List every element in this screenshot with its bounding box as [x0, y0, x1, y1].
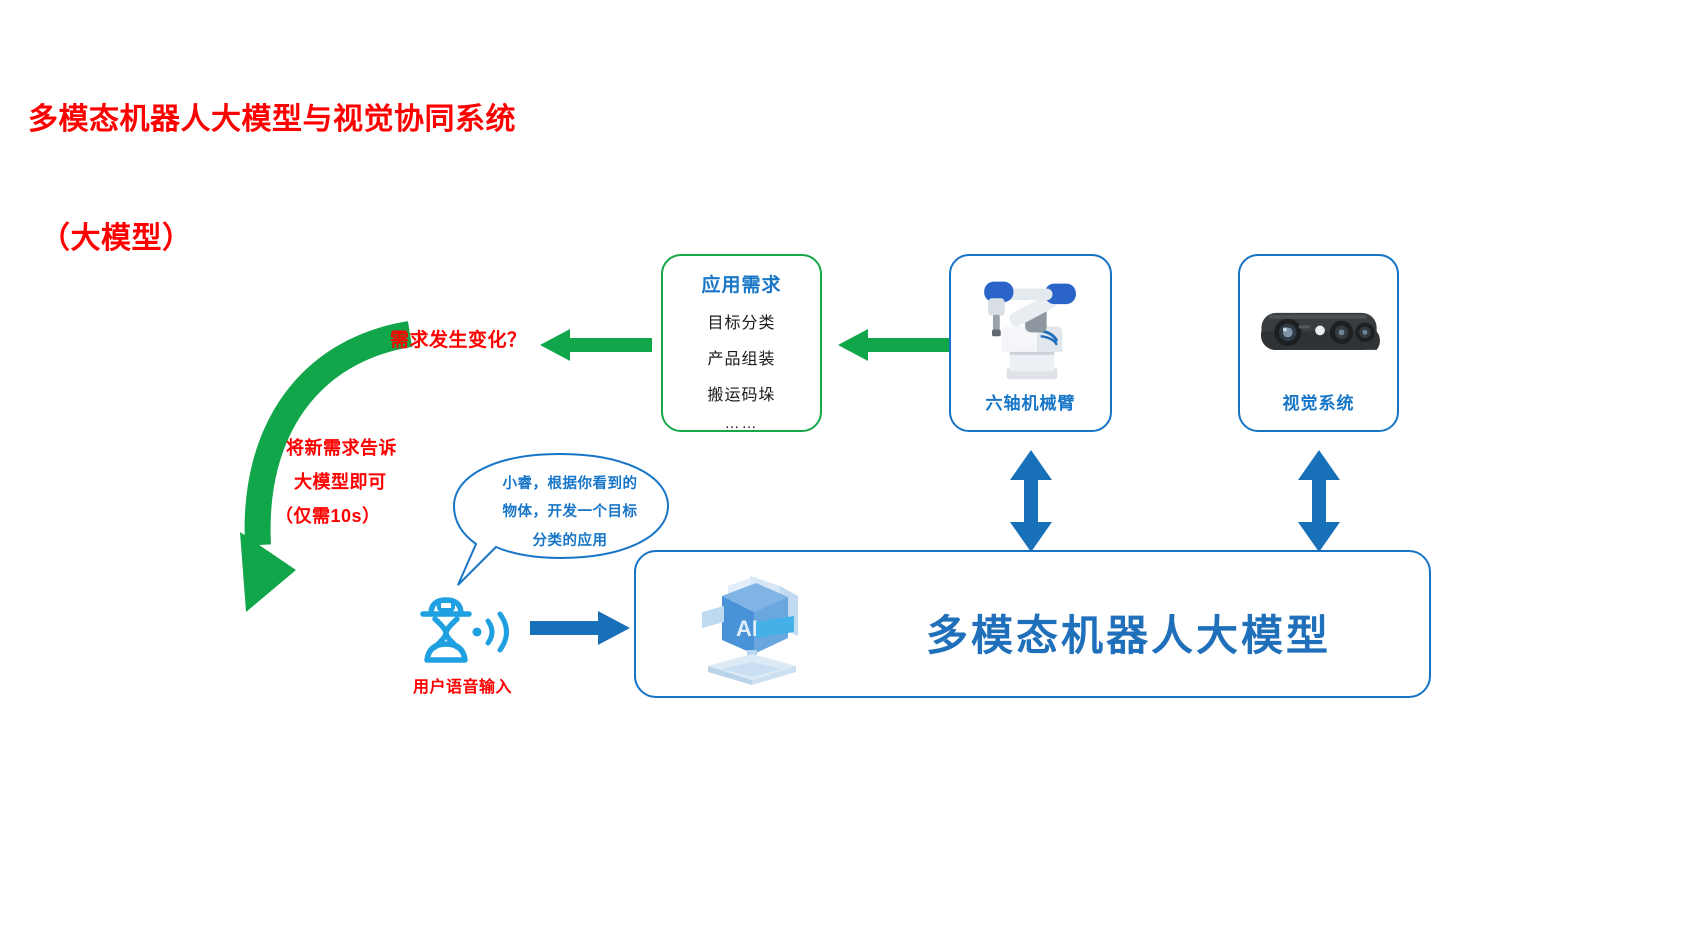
requirements-heading: 应用需求 [663, 270, 820, 297]
depth-camera-icon [1240, 266, 1396, 388]
user-voice-icon [413, 592, 518, 664]
multimodal-model-card: AI 多模态机器人大模型 [634, 550, 1431, 698]
ai-cube-icon: AI [694, 570, 814, 685]
requirement-item-ellipsis: …… [663, 415, 820, 432]
speech-bubble-line-1: 小睿，根据你看到的 [482, 470, 658, 498]
blue-arrow-user-to-model [530, 608, 630, 648]
blue-double-arrow-camera [1296, 450, 1342, 552]
speech-bubble-text: 小睿，根据你看到的 物体，开发一个目标 分类的应用 [482, 470, 658, 555]
robot-arm-icon [951, 266, 1107, 388]
green-arrow-arm-to-req [838, 325, 950, 365]
tell-model-label-line2: 大模型即可 [294, 468, 387, 494]
speech-bubble-line-2: 物体，开发一个目标 [482, 498, 658, 526]
vision-system-card: 视觉系统 [1238, 254, 1399, 432]
title-line-1: 多模态机器人大模型与视觉协同系统 [28, 100, 516, 140]
diagram-canvas: 多模态机器人大模型与视觉协同系统 （大模型） 应用需求 目标分类 产品组装 搬运… [0, 0, 1685, 948]
tell-model-label-line3: （仅需10s） [275, 502, 381, 528]
requirement-item-1: 目标分类 [663, 309, 820, 333]
green-arrow-req-to-change [540, 325, 652, 365]
application-requirements-card: 应用需求 目标分类 产品组装 搬运码垛 …… [661, 254, 822, 432]
svg-text:AI: AI [736, 616, 758, 641]
robot-arm-label: 六轴机械臂 [951, 389, 1110, 414]
speech-bubble-line-3: 分类的应用 [482, 527, 658, 555]
vision-system-label: 视觉系统 [1240, 389, 1397, 414]
blue-double-arrow-arm [1008, 450, 1054, 552]
robot-arm-card: 六轴机械臂 [949, 254, 1112, 432]
title-line-2: （大模型） [28, 219, 516, 259]
page-title: 多模态机器人大模型与视觉协同系统 （大模型） [28, 20, 516, 339]
multimodal-model-title: 多模态机器人大模型 [926, 602, 1331, 663]
requirement-item-2: 产品组装 [663, 345, 820, 369]
requirement-item-3: 搬运码垛 [663, 381, 820, 405]
tell-model-label-line1: 将新需求告诉 [286, 434, 397, 460]
requirement-changed-label: 需求发生变化？ [390, 325, 527, 352]
user-voice-input-label: 用户语音输入 [413, 673, 512, 697]
